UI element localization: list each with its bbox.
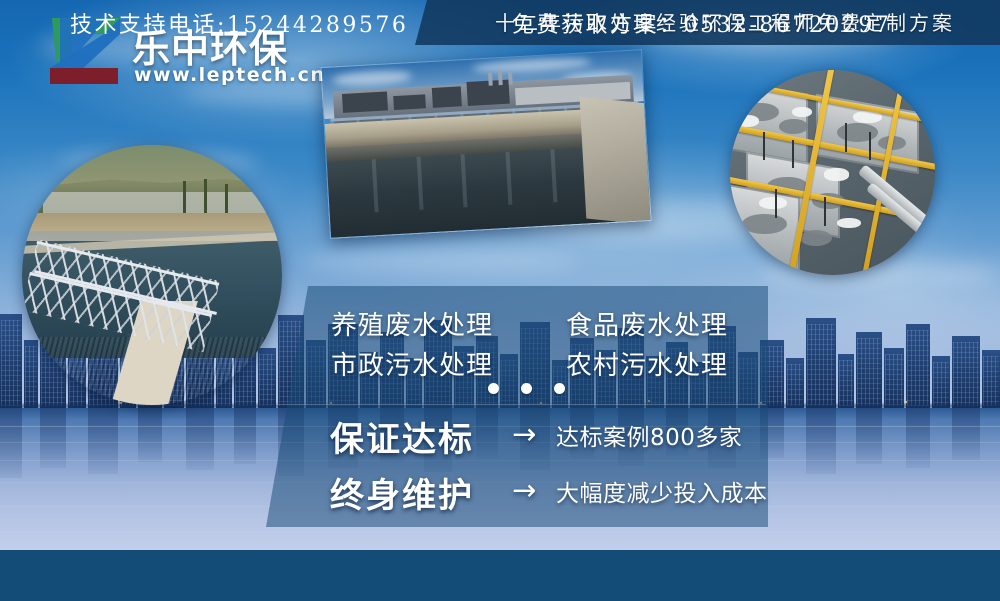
photo-industrial-treatment-plant <box>320 49 651 239</box>
promise-detail-compliance: 达标案例800多家 <box>556 418 742 452</box>
ellipsis-dots <box>488 383 568 395</box>
promise-detail-maintenance: 大幅度减少投入成本 <box>556 474 768 508</box>
service-item-food[interactable]: 食品废水处理 <box>566 305 728 342</box>
banner-canvas: 十二年污水处理经验环保工程师免费定制方案 乐中环保 www.leptech.cn <box>0 0 1000 601</box>
service-item-aquaculture[interactable]: 养殖废水处理 <box>331 305 493 342</box>
footer-support-phone[interactable]: 技术支持电话:15244289576 <box>70 0 408 51</box>
photo-sedimentation-pond-walkway <box>22 145 282 405</box>
photo-aeration-basins <box>730 70 935 275</box>
arrow-right-icon: → <box>512 417 536 451</box>
dot-2 <box>521 383 532 394</box>
dot-3 <box>554 383 565 394</box>
footer-quote-phone[interactable]: 免费获取方案：0532-86720297 <box>512 0 891 51</box>
footer-bar <box>0 550 1000 601</box>
dot-1 <box>488 383 499 394</box>
arrow-right-icon-2: → <box>512 473 536 507</box>
service-item-municipal[interactable]: 市政污水处理 <box>331 345 493 382</box>
logo-website: www.leptech.cn <box>134 64 325 86</box>
promise-title-maintenance: 终身维护 <box>330 468 474 517</box>
panel-divider <box>276 404 766 405</box>
promise-title-compliance: 保证达标 <box>330 412 474 461</box>
service-item-rural[interactable]: 农村污水处理 <box>566 345 728 382</box>
